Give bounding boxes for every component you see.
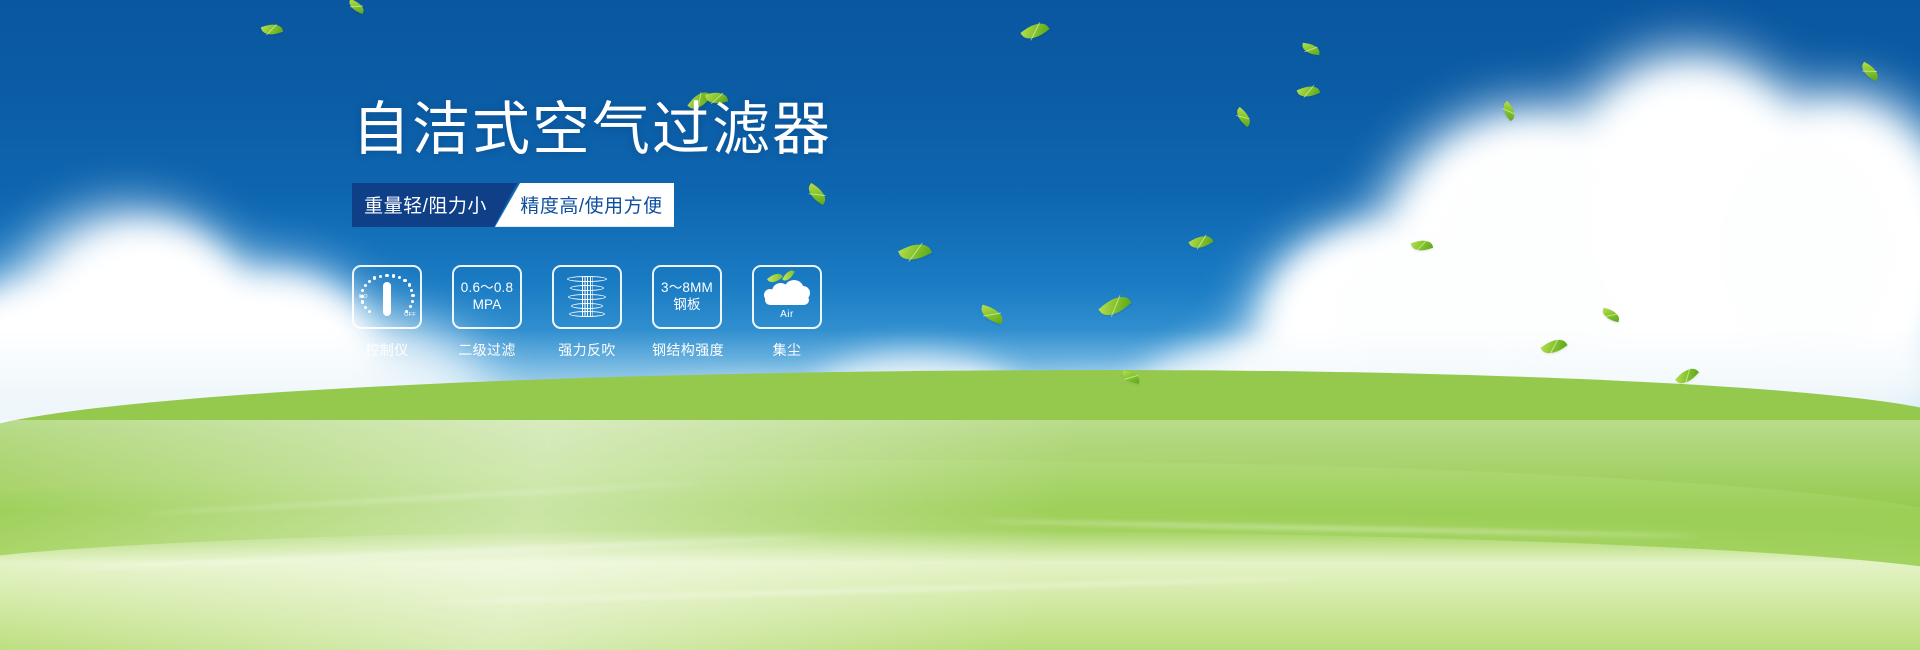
grass-hill-front [0,530,1920,650]
feature-two-stage-filter-box: 0.6～0.8 MPA [452,265,522,329]
air-label: Air [762,309,812,320]
gauge-label-no: NO [359,294,368,300]
steel-thickness: 3～8MM [661,280,713,297]
gauge-label-off: OFF [404,312,416,318]
leaf-decoration [261,21,283,38]
leaf-decoration [1233,107,1254,127]
leaf-decoration [1020,18,1049,45]
leaf-decoration [1301,43,1320,55]
feature-controller-box: NO OFF [352,265,422,329]
feature-dust-collection[interactable]: Air 集尘 [752,265,822,360]
feature-steel-strength[interactable]: 3～8MM 钢板 钢结构强度 [652,265,722,360]
feature-strong-blowback-box [552,265,622,329]
tab-high-precision-easy-use[interactable]: 精度高/使用方便 [495,183,674,227]
leaf-decoration [1540,334,1567,358]
page-title: 自洁式空气过滤器 [352,100,1112,161]
feature-icon-row: NO OFF 控制仪 0.6～0.8 MPA 二级过滤 [352,265,1112,360]
pressure-unit: MPA [461,297,513,314]
pressure-range: 0.6～0.8 [461,280,513,297]
banner-content: 自洁式空气过滤器 重量轻/阻力小 精度高/使用方便 [352,100,1112,360]
feature-caption: 控制仪 [352,340,422,360]
feature-dust-collection-box: Air [752,265,822,329]
feature-caption: 钢结构强度 [652,340,722,360]
leaf-decoration [1859,62,1882,82]
feature-caption: 强力反吹 [552,340,622,360]
feature-caption: 集尘 [752,340,822,360]
air-cloud-icon: Air [762,275,812,319]
tab-strip: 重量轻/阻力小 精度高/使用方便 [352,183,674,227]
leaf-decoration [1411,237,1433,254]
steel-material: 钢板 [661,297,713,314]
feature-strong-blowback[interactable]: 强力反吹 [552,265,622,360]
leaf-decoration [1297,82,1321,100]
steel-plate-text: 3～8MM 钢板 [661,280,713,314]
feature-controller[interactable]: NO OFF 控制仪 [352,265,422,360]
feature-two-stage-filter[interactable]: 0.6～0.8 MPA 二级过滤 [452,265,522,360]
leaf-decoration [1500,101,1519,121]
gauge-needle-icon [383,282,391,316]
leaf-decoration [347,0,366,14]
feature-caption: 二级过滤 [452,340,522,360]
pressure-value-text: 0.6～0.8 MPA [461,280,513,314]
feature-steel-strength-box: 3～8MM 钢板 [652,265,722,329]
gauge-icon: NO OFF [361,274,413,320]
cloud-right-detail [1280,90,1900,420]
leaf-decoration [1601,308,1621,323]
tab-light-weight-low-resistance[interactable]: 重量轻/阻力小 [352,183,517,227]
coil-icon [566,274,608,320]
leaf-decoration [1188,231,1213,252]
hero-banner: 自洁式空气过滤器 重量轻/阻力小 精度高/使用方便 [0,0,1920,650]
